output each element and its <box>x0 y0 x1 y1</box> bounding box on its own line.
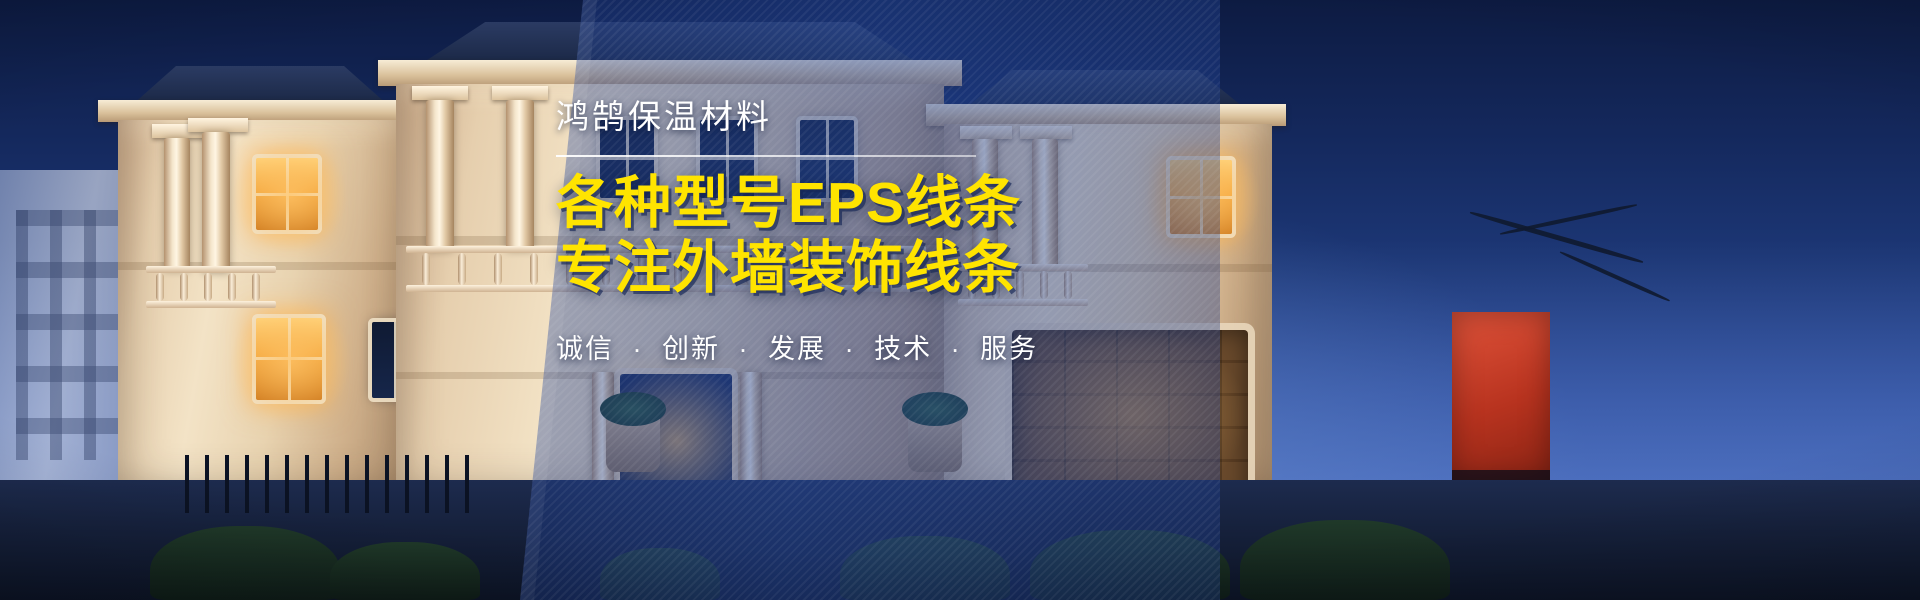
headline-line-1: 各种型号EPS线条 <box>556 171 1076 236</box>
porch-column-left-2 <box>202 132 230 272</box>
balustrade-left <box>146 266 276 308</box>
tagline-item-2: 发展 <box>768 334 826 364</box>
headline-line-2: 专注外墙装饰线条 <box>556 236 1076 301</box>
tagline-sep-0: · <box>633 334 644 364</box>
center-column-2 <box>506 100 534 250</box>
center-cap-1 <box>412 86 468 100</box>
shrub-1 <box>150 526 340 600</box>
copy-divider <box>556 155 976 157</box>
shrub-6 <box>1240 520 1450 600</box>
left-wing-cornice <box>98 100 428 122</box>
window-left-upper-1 <box>256 158 318 230</box>
red-structure <box>1452 312 1550 480</box>
porch-column-left-1 <box>164 138 190 270</box>
fence-railing <box>185 455 485 513</box>
tagline: 诚信 · 创新 · 发展 · 技术 · 服务 <box>556 327 1076 366</box>
shrub-2 <box>330 542 480 600</box>
center-cap-2 <box>492 86 548 100</box>
window-left-lower-1 <box>256 318 322 400</box>
tagline-item-0: 诚信 <box>556 334 614 364</box>
tagline-sep-1: · <box>739 334 750 364</box>
tagline-sep-2: · <box>845 334 856 364</box>
porch-cap-left-2 <box>188 118 248 132</box>
center-column-1 <box>426 100 454 250</box>
tagline-sep-3: · <box>951 334 962 364</box>
tagline-item-3: 技术 <box>874 334 932 364</box>
brand-name: 鸿鹄保温材料 <box>556 96 1076 137</box>
tagline-item-1: 创新 <box>662 334 720 364</box>
banner-hero: 鸿鹄保温材料 各种型号EPS线条 专注外墙装饰线条 诚信 · 创新 · 发展 ·… <box>0 0 1920 600</box>
tagline-item-4: 服务 <box>980 334 1038 364</box>
banner-copy: 鸿鹄保温材料 各种型号EPS线条 专注外墙装饰线条 诚信 · 创新 · 发展 ·… <box>556 96 1076 366</box>
